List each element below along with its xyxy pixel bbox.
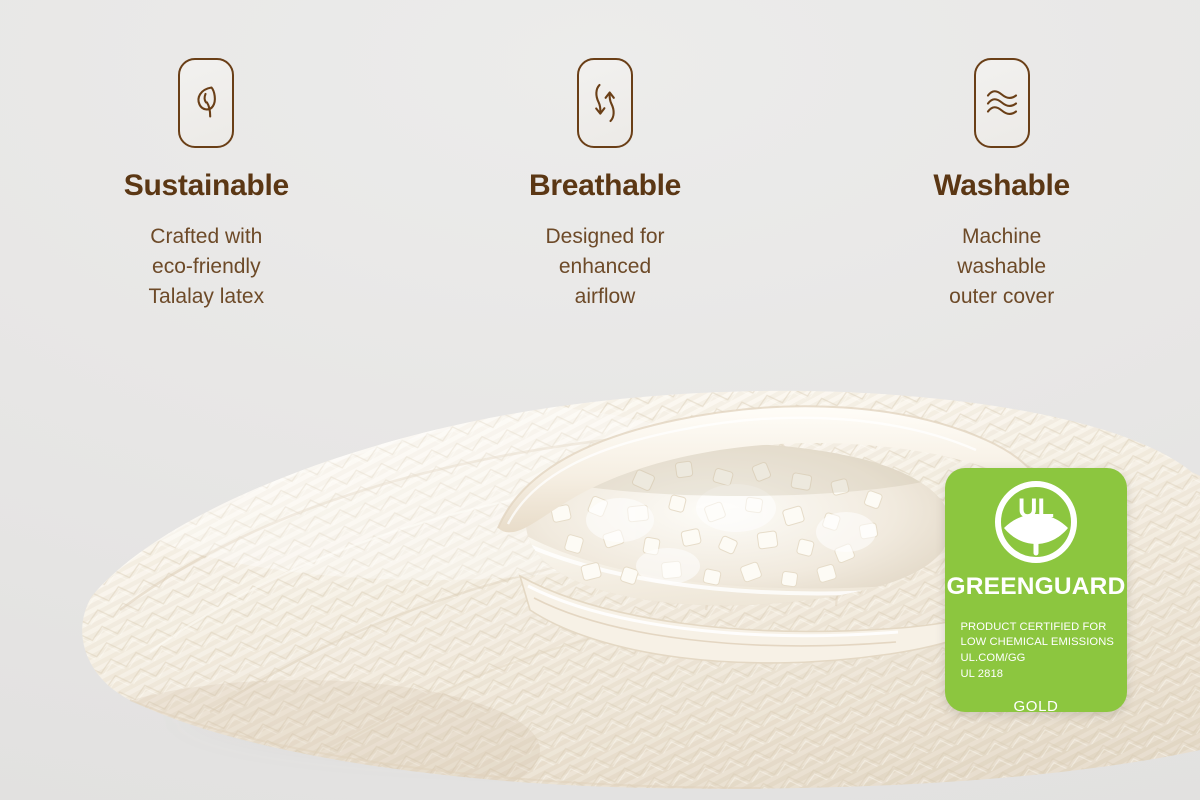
feature-title: Sustainable [124, 171, 289, 201]
desc-line: enhanced [545, 252, 664, 282]
desc-line: eco-friendly [149, 252, 265, 282]
feature-description: Designed for enhanced airflow [545, 222, 664, 312]
feature-breathable: Breathable Designed for enhanced airflow [405, 0, 804, 330]
greenguard-wordmark: GREENGUARD [947, 575, 1126, 600]
cert-line: UL 2818 [961, 667, 1112, 683]
feature-strip: Sustainable Crafted with eco-friendly Ta… [0, 0, 1200, 330]
water-waves-icon [974, 58, 1030, 148]
feature-description: Machine washable outer cover [949, 222, 1054, 312]
feature-washable: Washable Machine washable outer cover [803, 0, 1200, 330]
airflow-arrows-icon [577, 58, 633, 148]
certification-level: GOLD [1014, 698, 1059, 712]
desc-line: airflow [545, 282, 664, 312]
feature-sustainable: Sustainable Crafted with eco-friendly Ta… [0, 0, 405, 330]
desc-line: outer cover [949, 282, 1054, 312]
desc-line: Designed for [545, 222, 664, 252]
desc-line: washable [949, 252, 1054, 282]
leaf-icon [178, 58, 234, 148]
feature-title: Washable [933, 171, 1070, 201]
certification-text: PRODUCT CERTIFIED FOR LOW CHEMICAL EMISS… [961, 620, 1112, 684]
ul-logo-letters: UL [1018, 493, 1054, 523]
promo-stage: Sustainable Crafted with eco-friendly Ta… [0, 0, 1200, 800]
greenguard-certification-badge: UL GREENGUARD PRODUCT CERTIFIED FOR LOW … [945, 468, 1127, 712]
feature-title: Breathable [529, 171, 681, 201]
desc-line: Crafted with [149, 222, 265, 252]
cert-line: PRODUCT CERTIFIED FOR [961, 620, 1112, 636]
ul-greenguard-leaf-mark: UL [995, 481, 1077, 568]
feature-description: Crafted with eco-friendly Talalay latex [149, 222, 265, 312]
desc-line: Talalay latex [149, 282, 265, 312]
cert-line: UL.COM/GG [961, 651, 1112, 667]
cert-line: LOW CHEMICAL EMISSIONS [961, 635, 1112, 651]
desc-line: Machine [949, 222, 1054, 252]
